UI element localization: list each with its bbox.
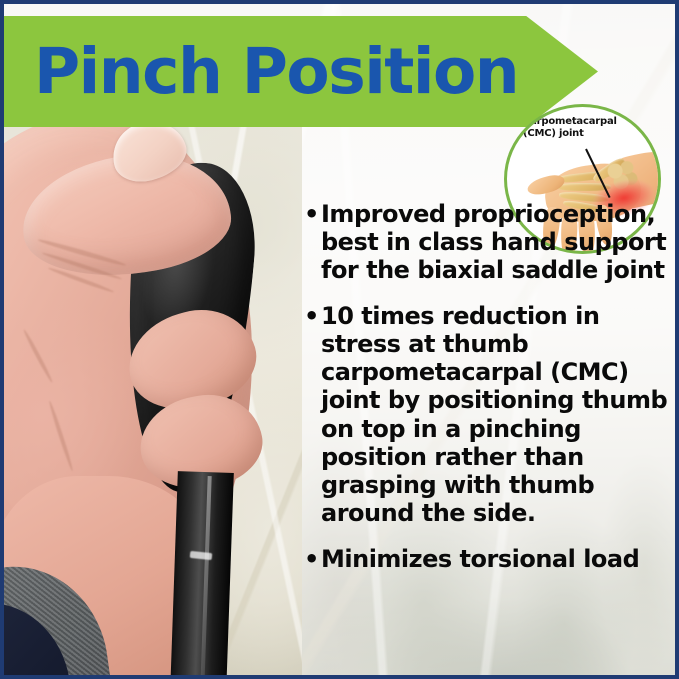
page-title: Pinch Position [34, 40, 518, 103]
cmc-joint-label: Carpometacarpal (CMC) joint [523, 116, 617, 140]
cmc-joint-label-line2: (CMC) joint [523, 128, 617, 140]
bullet-dot-icon: • [304, 200, 317, 228]
bullet-dot-icon: • [304, 302, 317, 330]
benefits-list: • Improved proprioception, best in class… [304, 200, 676, 573]
list-item: • Improved proprioception, best in class… [304, 200, 676, 284]
bullet-dot-icon: • [304, 545, 317, 573]
hand-grip-photo [0, 104, 302, 679]
list-item: • 10 times reduction in stress at thumb … [304, 302, 676, 527]
list-item-text: Minimizes torsional load [321, 545, 676, 573]
title-banner: Pinch Position [0, 16, 598, 127]
list-item: • Minimizes torsional load [304, 545, 676, 573]
list-item-text: Improved proprioception, best in class h… [321, 200, 676, 284]
list-item-text: 10 times reduction in stress at thumb ca… [321, 302, 676, 527]
cmc-joint-label-line1: Carpometacarpal [523, 116, 617, 128]
pinch-position-infographic: Pinch Position Carpometacarpal (CMC) joi… [0, 0, 679, 679]
